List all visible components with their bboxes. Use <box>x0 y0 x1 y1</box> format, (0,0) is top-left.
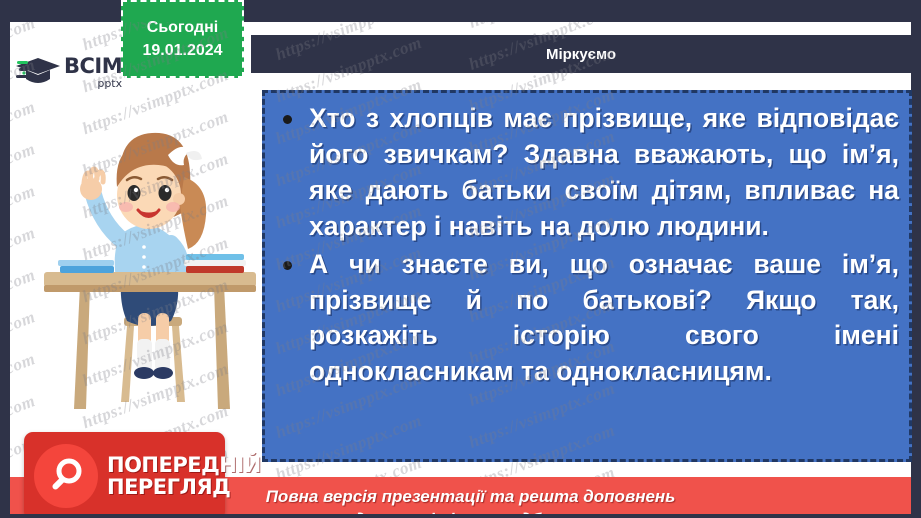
today-date-badge: Сьогодні 19.01.2024 <box>121 0 244 78</box>
slide-outer-frame: BCIM pptx Повна версія презентації та ре… <box>0 0 921 518</box>
preview-badge: ПОПЕРЕДНІЙ ПЕРЕГЛЯД <box>24 432 225 514</box>
schoolgirl-illustration <box>28 117 266 427</box>
notice-line-2: доступні після придбання. <box>266 509 676 515</box>
brand-name: BCIM <box>64 56 122 77</box>
today-date: 19.01.2024 <box>142 39 222 62</box>
purchase-notice-text: Повна версія презентації та решта доповн… <box>266 486 676 514</box>
slide-header-bar: Міркуємо <box>251 35 911 73</box>
list-item: А чи знаєте ви, що означає ваше ім’я, пр… <box>275 247 899 391</box>
content-box: Хто з хлопців має прізвище, яке відповід… <box>262 90 912 462</box>
brand-logo: BCIM pptx <box>16 48 134 96</box>
brand-logo-text: BCIM pptx <box>64 56 122 89</box>
graduation-cap-icon <box>16 52 62 92</box>
bullet-text: Хто з хлопців має прізвище, яке відповід… <box>309 103 899 241</box>
notice-line-1: Повна версія презентації та решта доповн… <box>266 486 676 509</box>
preview-label-line-1: ПОПЕРЕДНІЙ <box>107 454 261 476</box>
bullet-text: А чи знаєте ви, що означає ваше ім’я, пр… <box>309 249 899 387</box>
today-label: Сьогодні <box>147 16 218 39</box>
bullet-list: Хто з хлопців має прізвище, яке відповід… <box>275 101 899 390</box>
preview-badge-label: ПОПЕРЕДНІЙ ПЕРЕГЛЯД <box>107 454 261 499</box>
list-item: Хто з хлопців має прізвище, яке відповід… <box>275 101 899 245</box>
page-title: Міркуємо <box>546 46 616 63</box>
brand-subtitle: pptx <box>64 78 122 89</box>
preview-label-line-2: ПЕРЕГЛЯД <box>107 476 261 498</box>
magnifier-icon <box>45 455 87 497</box>
preview-badge-icon-circle <box>34 444 98 508</box>
